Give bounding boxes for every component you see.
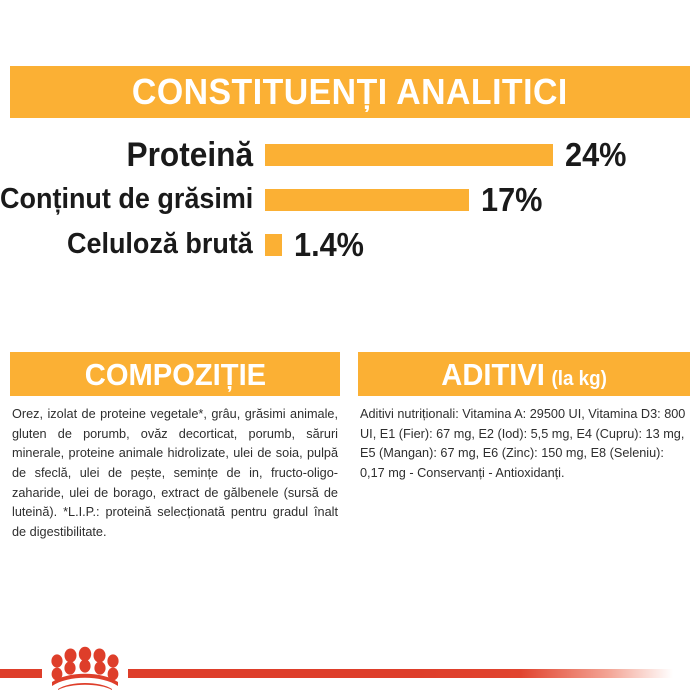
analytical-bar-chart: Proteină 24% Conținut de grăsimi 17% Cel…	[0, 132, 700, 267]
bar-row-fat: Conținut de grăsimi 17%	[0, 177, 700, 222]
additives-title: ADITIVI (la kg)	[441, 359, 607, 390]
bar-track-crude-fibre: 1.4%	[265, 234, 282, 256]
bar-label-protein: Proteină	[126, 138, 253, 172]
bar-track-fat: 17%	[265, 189, 469, 211]
bar-label-crude-fibre: Celuloză brută	[67, 230, 253, 259]
bar-fill-crude-fibre	[265, 234, 282, 256]
bar-value-crude-fibre: 1.4%	[294, 228, 364, 261]
analytical-constituents-panel: CONSTITUENȚI ANALITICI Proteină 24% Conț…	[0, 0, 700, 330]
analytical-constituents-title: CONSTITUENȚI ANALITICI	[132, 74, 568, 110]
additives-panel: ADITIVI (la kg) Aditivi nutriționali: Vi…	[358, 352, 690, 484]
additives-title-text: ADITIVI	[441, 359, 545, 390]
bar-value-protein: 24%	[565, 138, 626, 171]
footer-rule-right	[128, 669, 673, 678]
composition-header: COMPOZIȚIE	[10, 352, 340, 396]
bar-fill-fat	[265, 189, 469, 211]
bar-row-protein: Proteină 24%	[0, 132, 700, 177]
bar-track-protein: 24%	[265, 144, 553, 166]
additives-body-text: Aditivi nutriționali: Vitamina A: 29500 …	[358, 396, 690, 484]
bar-label-fat: Conținut de grăsimi	[0, 185, 253, 214]
composition-body-text: Orez, izolat de proteine vegetale*, grâu…	[10, 396, 340, 543]
royal-canin-crown-icon	[48, 646, 122, 690]
bar-value-fat: 17%	[481, 183, 542, 216]
footer-rule-left	[0, 669, 42, 678]
composition-panel: COMPOZIȚIE Orez, izolat de proteine vege…	[10, 352, 340, 543]
bar-row-crude-fibre: Celuloză brută 1.4%	[0, 222, 700, 267]
analytical-constituents-header: CONSTITUENȚI ANALITICI	[10, 66, 690, 118]
additives-title-subtitle: (la kg)	[551, 369, 606, 389]
composition-title: COMPOZIȚIE	[84, 359, 265, 390]
bar-fill-protein	[265, 144, 553, 166]
composition-title-text: COMPOZIȚIE	[84, 359, 265, 390]
footer-brand-bar	[0, 628, 700, 700]
additives-header: ADITIVI (la kg)	[358, 352, 690, 396]
